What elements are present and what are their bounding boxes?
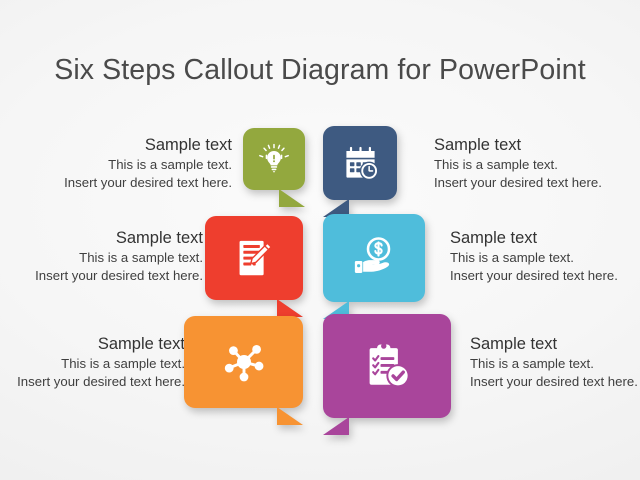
page-title: Six Steps Callout Diagram for PowerPoint (0, 54, 640, 87)
step-6-text-block: Sample text This is a sample text. Inser… (470, 334, 638, 391)
step-3-text-block: Sample text This is a sample text. Inser… (35, 228, 203, 285)
step-3-line-2: Insert your desired text here. (35, 267, 203, 285)
step-5-text-block: Sample text This is a sample text. Inser… (17, 334, 185, 391)
step-6-bubble-tail (323, 417, 349, 435)
hand-money-icon (323, 214, 425, 302)
step-5-bubble-tail (277, 407, 303, 425)
step-6-heading: Sample text (470, 334, 638, 355)
step-1-callout-bubble[interactable] (243, 128, 305, 190)
step-3-bubble-tail (277, 299, 303, 317)
clipboard-check-icon (323, 314, 451, 418)
step-6-callout-bubble[interactable] (323, 314, 451, 418)
step-4-line-2: Insert your desired text here. (450, 267, 618, 285)
step-4-heading: Sample text (450, 228, 618, 249)
step-6-line-1: This is a sample text. (470, 355, 638, 373)
step-4-callout-bubble[interactable] (323, 214, 425, 302)
step-5-line-2: Insert your desired text here. (17, 373, 185, 391)
step-5-heading: Sample text (17, 334, 185, 355)
step-2-line-1: This is a sample text. (434, 156, 602, 174)
step-2-callout-bubble[interactable] (323, 126, 397, 200)
step-4-line-1: This is a sample text. (450, 249, 618, 267)
step-1-line-2: Insert your desired text here. (64, 174, 232, 192)
step-2-line-2: Insert your desired text here. (434, 174, 602, 192)
step-3-line-1: This is a sample text. (35, 249, 203, 267)
calendar-clock-icon (323, 126, 397, 200)
step-3-heading: Sample text (35, 228, 203, 249)
step-5-callout-bubble[interactable] (184, 316, 303, 408)
network-hub-icon (184, 316, 303, 408)
step-1-line-1: This is a sample text. (64, 156, 232, 174)
document-pencil-icon (205, 216, 303, 300)
step-5-line-1: This is a sample text. (17, 355, 185, 373)
lightbulb-icon (243, 128, 305, 190)
step-2-heading: Sample text (434, 135, 602, 156)
step-6-line-2: Insert your desired text here. (470, 373, 638, 391)
step-1-text-block: Sample text This is a sample text. Inser… (64, 135, 232, 192)
step-3-callout-bubble[interactable] (205, 216, 303, 300)
step-2-text-block: Sample text This is a sample text. Inser… (434, 135, 602, 192)
step-4-text-block: Sample text This is a sample text. Inser… (450, 228, 618, 285)
step-1-bubble-tail (279, 189, 305, 207)
step-1-heading: Sample text (64, 135, 232, 156)
slide-canvas: Six Steps Callout Diagram for PowerPoint… (0, 0, 640, 480)
